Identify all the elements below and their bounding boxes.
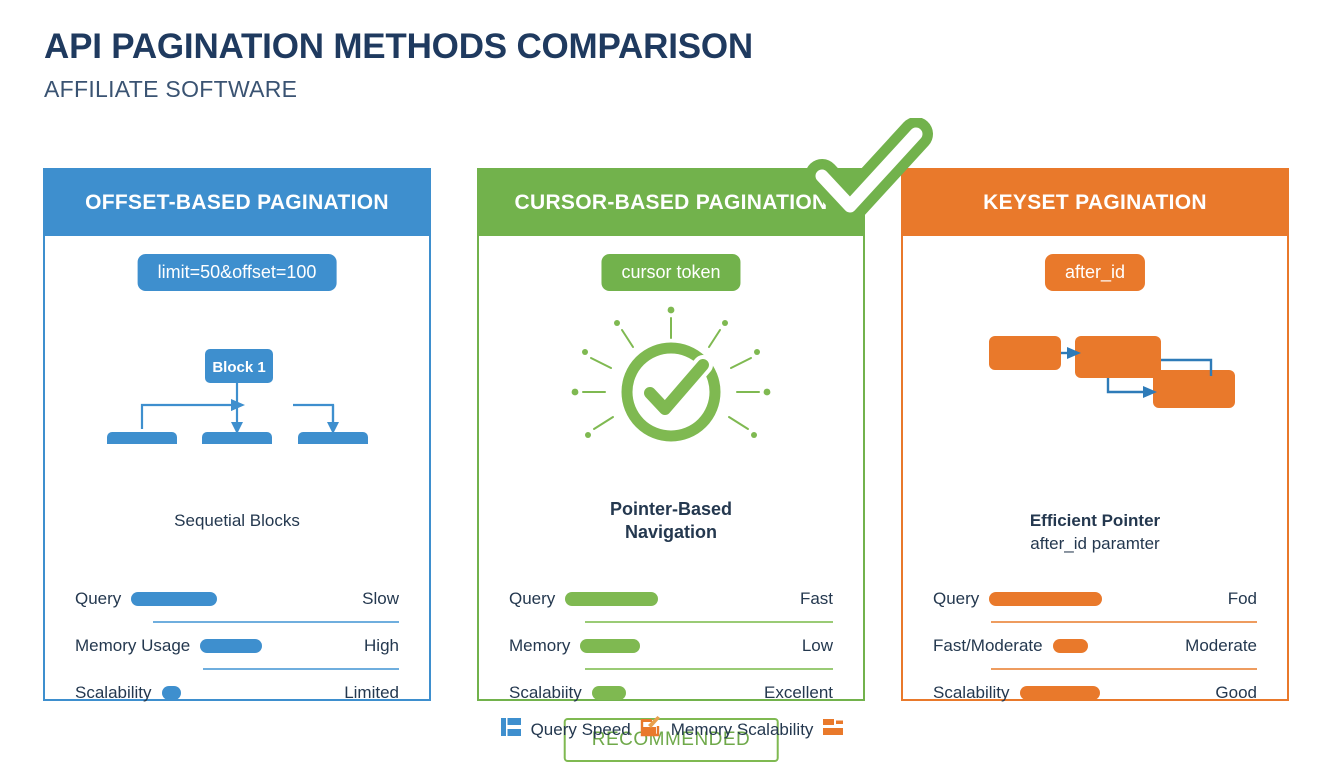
metric-label: Query (75, 589, 121, 609)
footer-legend: Query Speed Memory Scalability (0, 716, 1344, 743)
metric-row: Fast/Moderate Moderate (933, 623, 1257, 668)
metric-value: Excellent (764, 683, 833, 703)
card-cursor-based-body: cursor token (479, 236, 863, 701)
metric-bar (565, 592, 658, 606)
metric-row: Query Slow (75, 576, 399, 621)
recommended-checkmark-overlay (800, 118, 940, 235)
legend-label-query-speed: Query Speed (531, 720, 631, 740)
offset-block-b3: Block 3 (306, 442, 359, 444)
legend-label-memory-scalability: Memory Scalability (671, 720, 814, 740)
metric-value: Fod (1228, 589, 1257, 609)
keyset-pointer-chain-diagram (903, 324, 1287, 444)
offset-caption: Sequetial Blocks (45, 511, 429, 531)
page-title: API PAGINATION METHODS COMPARISON (44, 28, 753, 67)
metric-value: Low (802, 636, 833, 656)
metric-row: Memory Usage High (75, 623, 399, 668)
card-keyset[interactable]: KEYSET PAGINATION after_id (901, 168, 1289, 701)
metric-bar (131, 592, 217, 606)
query-speed-icon (500, 716, 522, 743)
metric-bar (592, 686, 626, 700)
metric-bar (1053, 639, 1088, 653)
metric-label: Query (509, 589, 555, 609)
metric-label: Query (933, 589, 979, 609)
cursor-metrics: Query Fast Memory Low Scalabiity Excelle… (509, 576, 833, 715)
metric-value: Moderate (1185, 636, 1257, 656)
metric-bar (200, 639, 262, 653)
offset-block-b2: Block 3 (210, 442, 263, 444)
metric-bar (580, 639, 640, 653)
scalability-bars-icon (822, 716, 844, 743)
metric-label: Fast/Moderate (933, 636, 1043, 656)
cursor-caption: Pointer-Based Navigation (479, 498, 863, 543)
card-cursor-based[interactable]: CURSOR-BASED PAGINATION cursor token (477, 168, 865, 701)
metric-label: Scalability (75, 683, 152, 703)
metric-row: Scalabiity Excellent (509, 670, 833, 715)
metric-value: Good (1215, 683, 1257, 703)
metric-bar (989, 592, 1102, 606)
metric-label: Scalability (933, 683, 1010, 703)
metric-row: Scalability Limited (75, 670, 399, 715)
cursor-token-chip: cursor token (601, 254, 740, 291)
cursor-caption-line2: Navigation (479, 521, 863, 544)
cursor-caption-line1: Pointer-Based (479, 498, 863, 521)
metric-value: High (364, 636, 399, 656)
memory-edit-icon (640, 716, 662, 743)
card-offset-based-body: limit=50&offset=100 (45, 236, 429, 701)
metric-row: Memory Low (509, 623, 833, 668)
card-offset-based-title: OFFSET-BASED PAGINATION (45, 170, 429, 236)
card-keyset-title: KEYSET PAGINATION (903, 170, 1287, 236)
metric-row: Scalability Good (933, 670, 1257, 715)
metric-value: Fast (800, 589, 833, 609)
offset-metrics: Query Slow Memory Usage High Scalability… (75, 576, 399, 715)
metric-label: Memory (509, 636, 570, 656)
card-offset-based[interactable]: OFFSET-BASED PAGINATION limit=50&offset=… (43, 168, 431, 701)
checkmark-icon (800, 118, 940, 230)
metric-label: Scalabiity (509, 683, 582, 703)
infographic-page: API PAGINATION METHODS COMPARISON AFFILI… (0, 0, 1344, 768)
page-header: API PAGINATION METHODS COMPARISON AFFILI… (44, 28, 753, 103)
offset-block-diagram: Block 1 Block 1 Block 3 Block 3 (45, 304, 429, 444)
keyset-metrics: Query Fod Fast/Moderate Moderate Scalabi… (933, 576, 1257, 715)
after-id-chip: after_id (1045, 254, 1145, 291)
metric-bar (1020, 686, 1100, 700)
metric-row: Query Fast (509, 576, 833, 621)
keyset-caption-line2: after_id paramter (903, 534, 1287, 554)
metric-value: Limited (344, 683, 399, 703)
offset-block-top: Block 1 (212, 359, 265, 376)
metric-label: Memory Usage (75, 636, 190, 656)
metric-bar (162, 686, 181, 700)
keyset-caption-line1: Efficient Pointer (903, 511, 1287, 531)
offset-query-chip: limit=50&offset=100 (138, 254, 337, 291)
page-subtitle: AFFILIATE SOFTWARE (44, 76, 753, 103)
metric-value: Slow (362, 589, 399, 609)
card-keyset-body: after_id Efficient (903, 236, 1287, 701)
metric-row: Query Fod (933, 576, 1257, 621)
cursor-radiant-check-diagram (479, 296, 863, 456)
offset-block-b1: Block 1 (115, 442, 168, 444)
